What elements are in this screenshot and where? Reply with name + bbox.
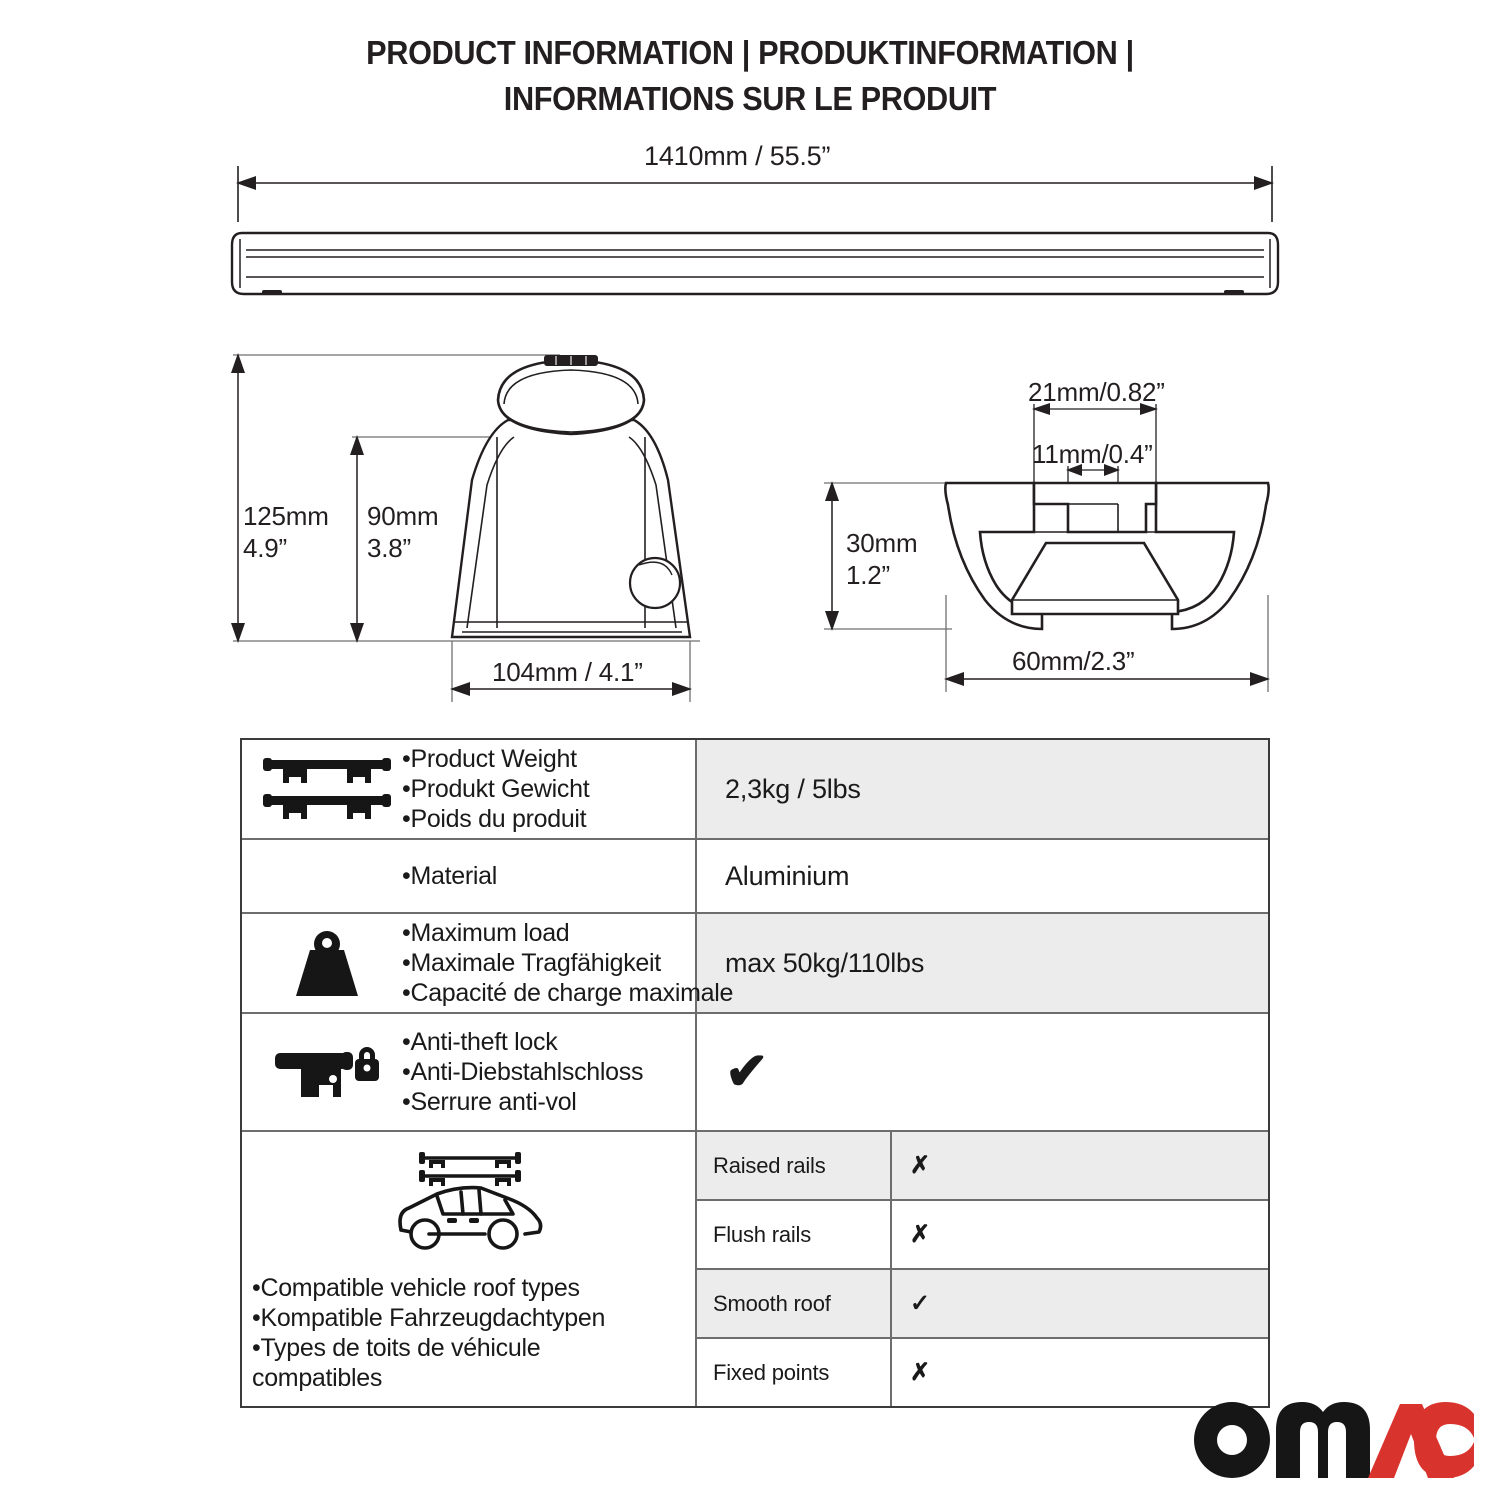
roof-types-subtable: Raised rails ✗ Flush rails ✗ Smooth roof… xyxy=(697,1132,1268,1406)
roof-bars-icon xyxy=(252,753,402,825)
spec-value-material: Aluminium xyxy=(697,840,1268,912)
roof-type-value: ✗ xyxy=(892,1339,1268,1406)
compat-label-text: •Compatible vehicle roof types •Kompatib… xyxy=(252,1273,605,1393)
roof-type-row: Flush rails ✗ xyxy=(697,1201,1268,1270)
roof-type-name: Flush rails xyxy=(697,1201,892,1268)
spec-label-en: •Anti-theft lock xyxy=(402,1027,643,1057)
spec-label-cell: •Material xyxy=(242,840,697,912)
spec-label-text: •Maximum load •Maximale Tragfähigkeit •C… xyxy=(402,918,733,1008)
spec-label-text: •Material xyxy=(402,861,497,891)
spec-label-material: •Material xyxy=(402,861,497,891)
table-row: •Maximum load •Maximale Tragfähigkeit •C… xyxy=(242,914,1268,1014)
weight-icon xyxy=(252,926,402,1000)
table-row: •Product Weight •Produkt Gewicht •Poids … xyxy=(242,740,1268,840)
car-with-roof-bars-icon xyxy=(385,1146,553,1263)
spec-label-en: •Product Weight xyxy=(402,744,589,774)
compat-label-de: •Kompatible Fahrzeugdachtypen xyxy=(252,1303,605,1333)
roof-type-name: Smooth roof xyxy=(697,1270,892,1337)
spec-label-de: •Produkt Gewicht xyxy=(402,774,589,804)
roof-type-name: Fixed points xyxy=(697,1339,892,1406)
spec-label-fr: •Serrure anti-vol xyxy=(402,1087,643,1117)
spec-label-en: •Maximum load xyxy=(402,918,733,948)
logo-letter-m xyxy=(1276,1402,1370,1478)
spec-label-cell: •Maximum load •Maximale Tragfähigkeit •C… xyxy=(242,914,697,1012)
check-icon: ✔ xyxy=(725,1046,768,1098)
compat-label-en: •Compatible vehicle roof types xyxy=(252,1273,605,1303)
spec-value-maximum-load: max 50kg/110lbs xyxy=(697,914,1268,1012)
roof-type-row: Raised rails ✗ xyxy=(697,1132,1268,1201)
roof-type-value: ✗ xyxy=(892,1132,1268,1199)
spec-label-cell: •Anti-theft lock •Anti-Diebstahlschloss … xyxy=(242,1014,697,1130)
spec-label-de: •Maximale Tragfähigkeit xyxy=(402,948,733,978)
roof-type-row: Fixed points ✗ xyxy=(697,1339,1268,1406)
compat-label-fr: •Types de toits de véhicule compatibles xyxy=(252,1333,582,1393)
spec-label-text: •Product Weight •Produkt Gewicht •Poids … xyxy=(402,744,589,834)
logo-letter-c xyxy=(1414,1402,1474,1478)
spec-label-de: •Anti-Diebstahlschloss xyxy=(402,1057,643,1087)
spec-label-cell: •Product Weight •Produkt Gewicht •Poids … xyxy=(242,740,697,838)
product-spec-table: •Product Weight •Produkt Gewicht •Poids … xyxy=(240,738,1270,1408)
spec-value-product-weight: 2,3kg / 5lbs xyxy=(697,740,1268,838)
product-information-sheet: PRODUCT INFORMATION | PRODUKTINFORMATION… xyxy=(0,0,1500,1500)
table-row: •Material Aluminium xyxy=(242,840,1268,914)
roof-type-value: ✗ xyxy=(892,1201,1268,1268)
spec-value-anti-theft-lock: ✔ xyxy=(697,1014,1268,1130)
roof-type-name: Raised rails xyxy=(697,1132,892,1199)
omac-logo xyxy=(1192,1402,1474,1478)
roof-type-row: Smooth roof ✓ xyxy=(697,1270,1268,1339)
roof-type-value: ✓ xyxy=(892,1270,1268,1337)
spec-label-text: •Anti-theft lock •Anti-Diebstahlschloss … xyxy=(402,1027,643,1117)
lock-icon xyxy=(252,1037,402,1107)
spec-label-fr: •Capacité de charge maximale xyxy=(402,978,733,1008)
table-row: •Anti-theft lock •Anti-Diebstahlschloss … xyxy=(242,1014,1268,1132)
table-row: •Compatible vehicle roof types •Kompatib… xyxy=(242,1132,1268,1406)
spec-label-fr: •Poids du produit xyxy=(402,804,589,834)
compat-label-cell: •Compatible vehicle roof types •Kompatib… xyxy=(242,1132,697,1406)
